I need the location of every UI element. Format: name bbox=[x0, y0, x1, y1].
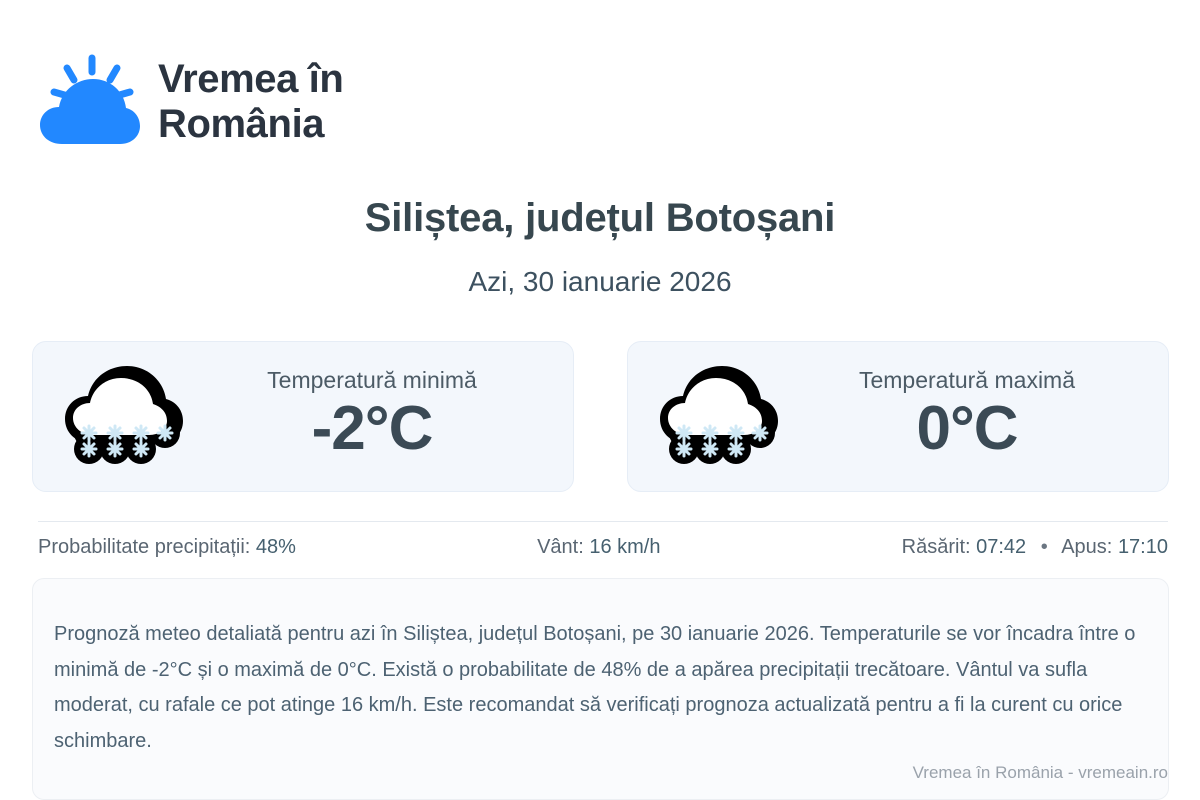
weather-page: Vremea în România Siliștea, județul Boto… bbox=[0, 0, 1200, 800]
sunrise-label: Răsărit: bbox=[902, 536, 971, 558]
min-temperature-text: Temperatură minimă -2°C bbox=[187, 367, 557, 465]
sunrise-value: 07:42 bbox=[976, 536, 1026, 558]
min-temperature-value: -2°C bbox=[312, 396, 433, 461]
max-temperature-text: Temperatură maximă 0°C bbox=[782, 367, 1152, 465]
wind-stat: Vânt: 16 km/h bbox=[296, 536, 902, 559]
wind-label: Vânt: bbox=[537, 536, 584, 558]
max-temperature-label: Temperatură maximă bbox=[859, 367, 1075, 394]
stats-divider bbox=[38, 521, 1168, 522]
sun-behind-cloud-icon bbox=[36, 52, 140, 152]
min-temperature-label: Temperatură minimă bbox=[267, 367, 477, 394]
forecast-description-text: Prognoză meteo detaliată pentru azi în S… bbox=[54, 617, 1144, 759]
sunset-label: Apus: bbox=[1061, 536, 1112, 558]
snow-cloud-icon bbox=[59, 361, 187, 473]
wind-value: 16 km/h bbox=[589, 536, 660, 558]
page-date: Azi, 30 ianuarie 2026 bbox=[0, 266, 1200, 298]
brand-logo[interactable]: Vremea în România bbox=[36, 52, 343, 152]
precipitation-stat: Probabilitate precipitații: 48% bbox=[38, 536, 296, 559]
min-temperature-card: Temperatură minimă -2°C bbox=[32, 341, 574, 492]
max-temperature-card: Temperatură maximă 0°C bbox=[627, 341, 1169, 492]
brand-name: Vremea în România bbox=[158, 57, 343, 147]
weather-stats-row: Probabilitate precipitații: 48% Vânt: 16… bbox=[38, 536, 1168, 559]
sun-times-stat: Răsărit: 07:42 • Apus: 17:10 bbox=[902, 536, 1168, 559]
temperature-cards: Temperatură minimă -2°C bbox=[32, 341, 1169, 492]
precipitation-value: 48% bbox=[256, 536, 296, 558]
snow-cloud-icon bbox=[654, 361, 782, 473]
max-temperature-value: 0°C bbox=[916, 396, 1017, 461]
page-title: Siliștea, județul Botoșani bbox=[0, 196, 1200, 241]
footer-credit: Vremea în România - vremeain.ro bbox=[913, 763, 1168, 783]
sun-separator: • bbox=[1032, 536, 1057, 558]
sunset-value: 17:10 bbox=[1118, 536, 1168, 558]
precipitation-label: Probabilitate precipitații: bbox=[38, 536, 250, 558]
